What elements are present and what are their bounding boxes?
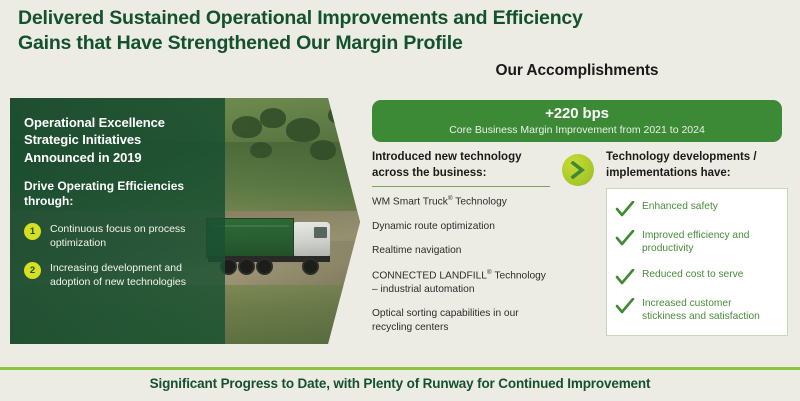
list-item-text: Increased customer stickiness and satisf… <box>642 297 777 324</box>
chevron-right-icon <box>562 154 594 186</box>
metric-value: +220 bps <box>545 105 609 122</box>
check-icon <box>615 298 635 314</box>
slide-root: Delivered Sustained Operational Improvem… <box>0 0 800 401</box>
middle-column-divider <box>372 186 550 187</box>
list-item: Optical sorting capabilities in our recy… <box>372 307 550 334</box>
number-badge: 1 <box>24 223 41 240</box>
footer-divider <box>0 367 800 370</box>
middle-column-list: WM Smart Truck® Technology Dynamic route… <box>372 195 550 334</box>
list-item: 1 Continuous focus on process optimizati… <box>24 222 214 250</box>
middle-column-heading: Introduced new technology across the bus… <box>372 150 550 181</box>
left-panel-subheading: Drive Operating Efficiencies through: <box>24 179 214 210</box>
page-title: Delivered Sustained Operational Improvem… <box>18 6 768 56</box>
middle-column: Introduced new technology across the bus… <box>372 150 550 345</box>
accomplishments-heading: Our Accomplishments <box>372 62 782 80</box>
left-panel-list: 1 Continuous focus on process optimizati… <box>24 222 214 289</box>
list-item: Reduced cost to serve <box>615 268 777 285</box>
number-badge: 2 <box>24 262 41 279</box>
metric-description: Core Business Margin Improvement from 20… <box>449 124 705 137</box>
list-item: Enhanced safety <box>615 200 777 217</box>
list-item: WM Smart Truck® Technology <box>372 195 550 209</box>
list-item: Realtime navigation <box>372 244 550 257</box>
check-icon <box>615 269 635 285</box>
metric-banner: +220 bps Core Business Margin Improvemen… <box>372 100 782 142</box>
right-column-heading: Technology developments / implementation… <box>606 150 788 181</box>
footer-text: Significant Progress to Date, with Plent… <box>0 376 800 391</box>
check-icon <box>615 230 635 246</box>
check-icon <box>615 201 635 217</box>
list-item: Improved efficiency and productivity <box>615 229 777 256</box>
list-item-text: Increasing development and adoption of n… <box>50 261 214 289</box>
benefits-box: Enhanced safety Improved efficiency and … <box>606 188 788 336</box>
list-item: Dynamic route optimization <box>372 220 550 233</box>
list-item-text: Improved efficiency and productivity <box>642 229 777 256</box>
left-panel-heading: Operational Excellence Strategic Initiat… <box>24 114 214 166</box>
right-column: Technology developments / implementation… <box>606 150 788 336</box>
list-item-text: Reduced cost to serve <box>642 268 743 281</box>
list-item-text: Continuous focus on process optimization <box>50 222 214 250</box>
list-item-text: Enhanced safety <box>642 200 718 213</box>
list-item: CONNECTED LANDFILL® Technology – industr… <box>372 269 550 296</box>
title-line-1: Delivered Sustained Operational Improvem… <box>18 7 583 29</box>
title-line-2: Gains that Have Strengthened Our Margin … <box>18 31 768 56</box>
list-item: Increased customer stickiness and satisf… <box>615 297 777 324</box>
list-item: 2 Increasing development and adoption of… <box>24 261 214 289</box>
left-panel: Operational Excellence Strategic Initiat… <box>24 114 214 300</box>
